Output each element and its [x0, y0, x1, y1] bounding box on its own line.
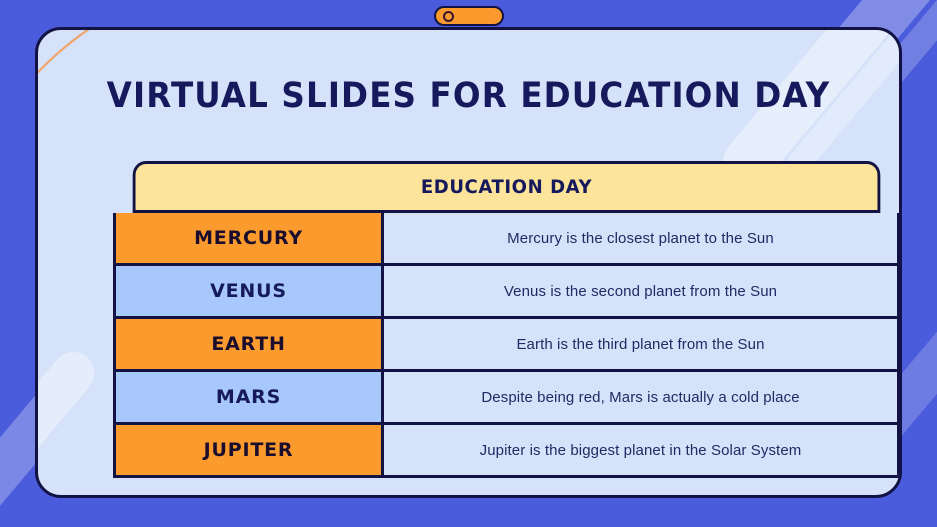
table-row: JUPITER Jupiter is the biggest planet in…: [113, 425, 900, 478]
light-streak: [35, 343, 103, 498]
table-row: MERCURY Mercury is the closest planet to…: [113, 213, 900, 266]
planet-name-cell: MERCURY: [116, 213, 384, 263]
camera-lens-icon: [443, 11, 454, 22]
planet-description-cell: Earth is the third planet from the Sun: [384, 319, 897, 369]
planet-description-cell: Jupiter is the biggest planet in the Sol…: [384, 425, 897, 475]
page-title: VIRTUAL SLIDES FOR EDUCATION DAY: [68, 76, 869, 116]
table-row: EARTH Earth is the third planet from the…: [113, 319, 900, 372]
planet-name-cell: MARS: [116, 372, 384, 422]
table-header: EDUCATION DAY: [133, 161, 881, 213]
table-row: VENUS Venus is the second planet from th…: [113, 266, 900, 319]
planet-name-cell: JUPITER: [116, 425, 384, 475]
tablet-screen: VIRTUAL SLIDES FOR EDUCATION DAY EDUCATI…: [35, 27, 902, 498]
education-day-table: EDUCATION DAY MERCURY Mercury is the clo…: [113, 161, 900, 478]
planet-description-cell: Mercury is the closest planet to the Sun: [384, 213, 897, 263]
planet-name-cell: VENUS: [116, 266, 384, 316]
tablet-camera-notch: [434, 6, 504, 26]
presentation-slide: VIRTUAL SLIDES FOR EDUCATION DAY EDUCATI…: [0, 0, 937, 527]
planet-description-cell: Despite being red, Mars is actually a co…: [384, 372, 897, 422]
table-row: MARS Despite being red, Mars is actually…: [113, 372, 900, 425]
planet-name-cell: EARTH: [116, 319, 384, 369]
planet-description-cell: Venus is the second planet from the Sun: [384, 266, 897, 316]
